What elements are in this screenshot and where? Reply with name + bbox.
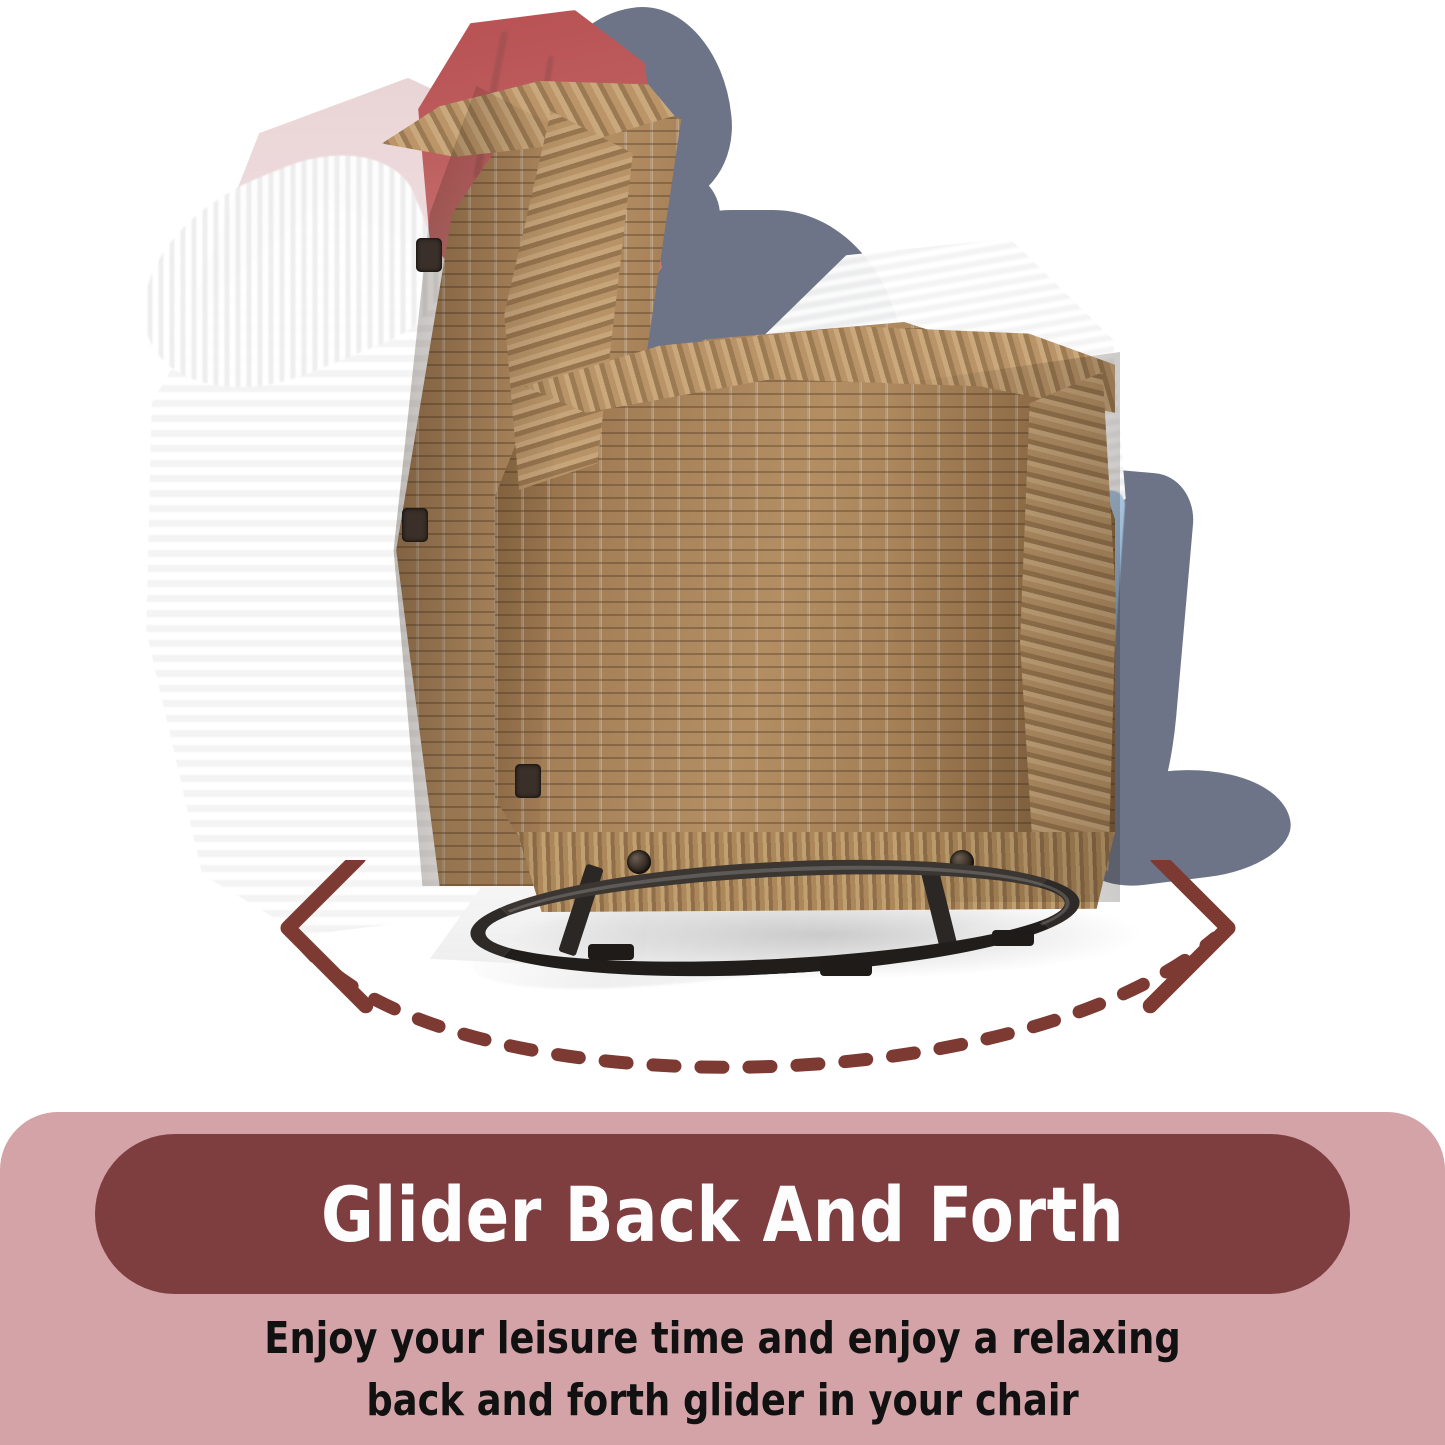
wicker-glider-chair — [330, 72, 1120, 902]
chair-bolt — [416, 238, 442, 272]
subtitle-block: Enjoy your leisure time and enjoy a rela… — [51, 1308, 1395, 1433]
chair-bolt — [402, 508, 428, 542]
headline-pill: Glider Back And Forth — [95, 1134, 1350, 1294]
chair-shading-right — [890, 352, 1120, 902]
chair-bolt — [515, 764, 541, 798]
product-photo — [0, 0, 1445, 1120]
glide-left-arrow — [288, 860, 436, 1006]
product-feature-image: Glider Back And Forth Enjoy your leisure… — [0, 0, 1445, 1445]
glide-motion-arc — [300, 938, 1215, 1067]
subtitle-line-2: back and forth glider in your chair — [51, 1370, 1395, 1432]
subtitle-line-1: Enjoy your leisure time and enjoy a rela… — [51, 1308, 1395, 1370]
glide-motion-indicator — [0, 860, 1445, 1120]
headline-text: Glider Back And Forth — [133, 1134, 1313, 1294]
caption-panel: Glider Back And Forth Enjoy your leisure… — [0, 1112, 1445, 1445]
glide-right-arrow — [1080, 860, 1228, 1006]
